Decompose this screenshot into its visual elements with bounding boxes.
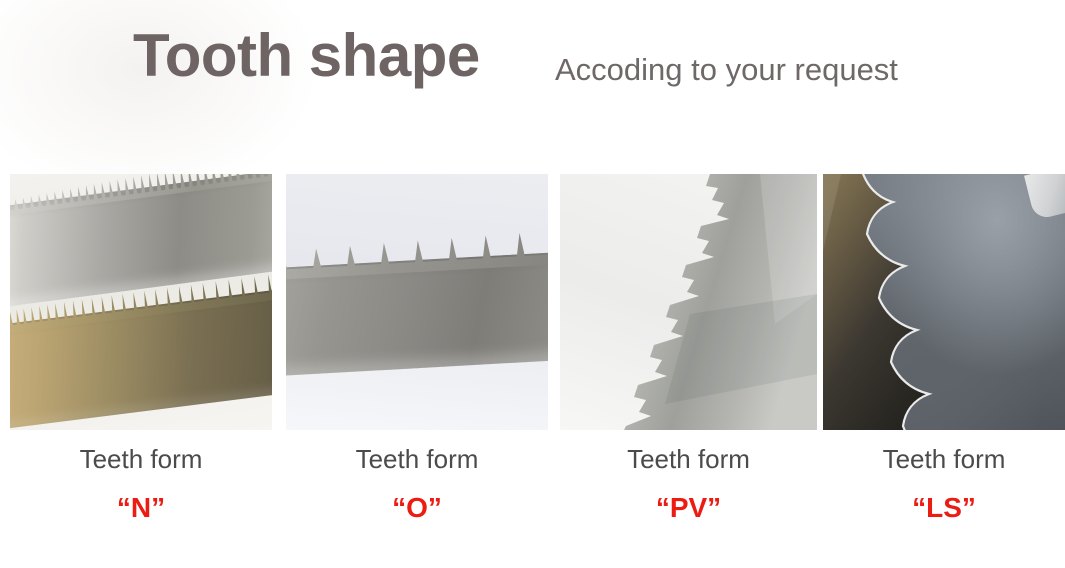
saw-blade: [286, 224, 548, 400]
caption-code: “LS”: [823, 492, 1065, 524]
page-title: Tooth shape: [133, 26, 480, 86]
caption-code: “N”: [10, 492, 272, 524]
tooth-panel-ls[interactable]: [823, 174, 1065, 430]
caption-pv: Teeth form “PV”: [560, 442, 817, 524]
caption-code: “O”: [286, 492, 548, 524]
tooth-panel-pv[interactable]: [560, 174, 817, 430]
caption-label: Teeth form: [286, 442, 548, 476]
tooth-photo-o: [286, 174, 548, 430]
tooth-panel-o[interactable]: [286, 174, 548, 430]
caption-o: Teeth form “O”: [286, 442, 548, 524]
tooth-panel-n[interactable]: [10, 174, 272, 430]
tooth-photo-ls: [823, 174, 1065, 430]
page-subtitle: Accoding to your request: [555, 54, 898, 85]
caption-label: Teeth form: [560, 442, 817, 476]
tooth-shape-page: Tooth shape Accoding to your request: [0, 0, 1065, 568]
tooth-photo-pv: [560, 174, 817, 430]
caption-code: “PV”: [560, 492, 817, 524]
caption-n: Teeth form “N”: [10, 442, 272, 524]
caption-row: Teeth form “N” Teeth form “O” Teeth form…: [0, 442, 1065, 552]
saw-blade-curved-gullet: [823, 174, 1065, 430]
caption-label: Teeth form: [823, 442, 1065, 476]
page-header: Tooth shape Accoding to your request: [0, 0, 1065, 150]
caption-ls: Teeth form “LS”: [823, 442, 1065, 524]
tooth-photo-n: [10, 174, 272, 430]
caption-label: Teeth form: [10, 442, 272, 476]
saw-blade-diagonal: [560, 174, 817, 430]
tooth-shape-gallery: [0, 174, 1065, 430]
